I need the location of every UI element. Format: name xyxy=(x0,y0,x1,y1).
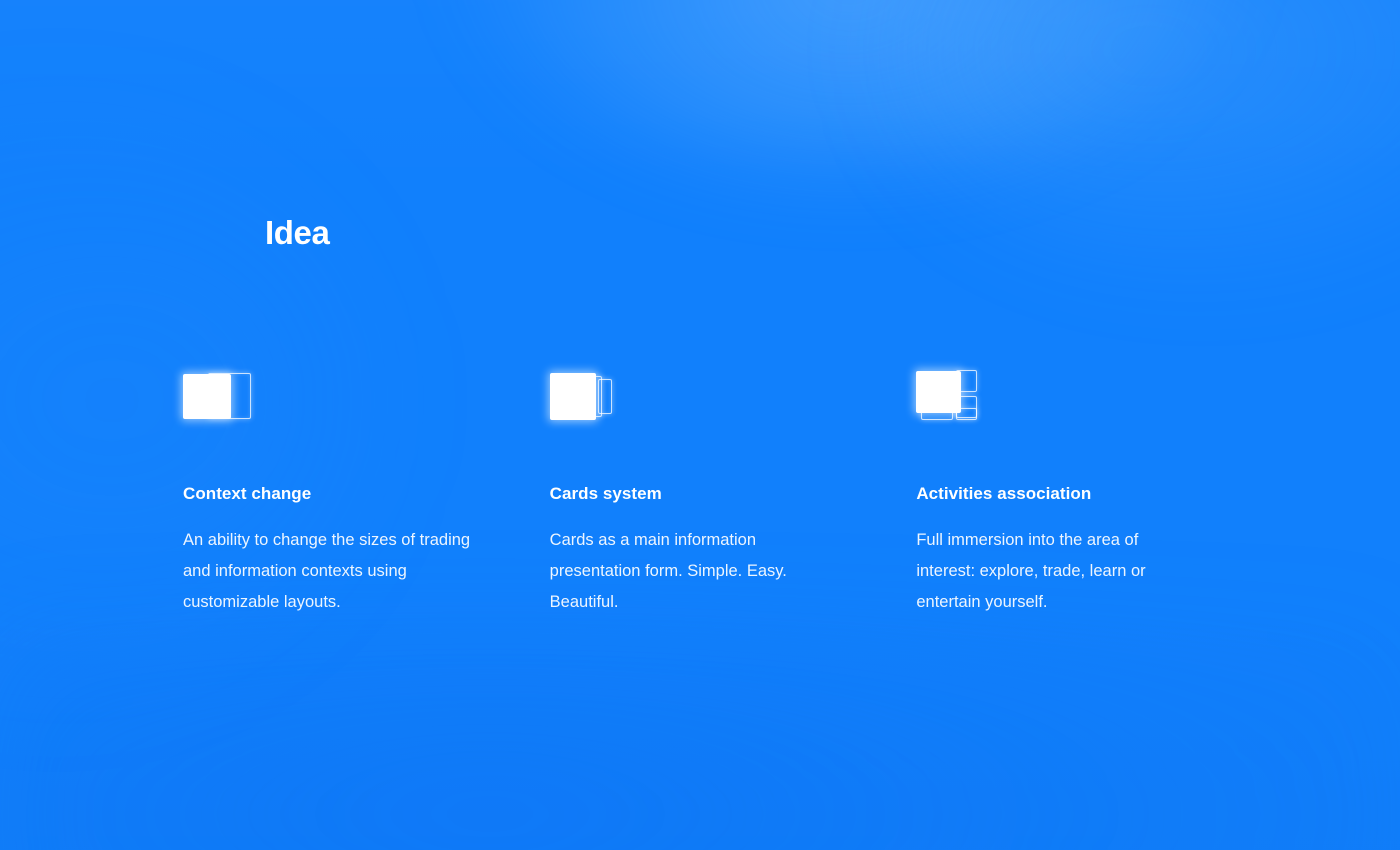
feature-item-context-change: Context change An ability to change the … xyxy=(183,366,550,618)
feature-body: Cards as a main information presentation… xyxy=(550,525,820,618)
card-stack-icon xyxy=(550,366,640,428)
mosaic-grid-icon-main-tile xyxy=(916,371,961,413)
feature-title: Cards system xyxy=(550,484,917,504)
split-panes-icon xyxy=(183,366,273,428)
feature-title: Context change xyxy=(183,484,550,504)
slide-idea: Idea Context change An ability to change… xyxy=(0,0,1400,850)
feature-item-cards-system: Cards system Cards as a main information… xyxy=(550,366,917,618)
split-panes-icon-outline-pane xyxy=(208,373,251,419)
feature-item-activities-association: Activities association Full immersion in… xyxy=(916,366,1283,618)
feature-body: Full immersion into the area of interest… xyxy=(916,525,1184,618)
card-stack-icon-front-card xyxy=(550,373,596,420)
page-title: Idea xyxy=(265,214,329,252)
mosaic-grid-icon xyxy=(916,366,1006,428)
feature-title: Activities association xyxy=(916,484,1283,504)
feature-list: Context change An ability to change the … xyxy=(183,366,1283,618)
feature-body: An ability to change the sizes of tradin… xyxy=(183,525,473,618)
